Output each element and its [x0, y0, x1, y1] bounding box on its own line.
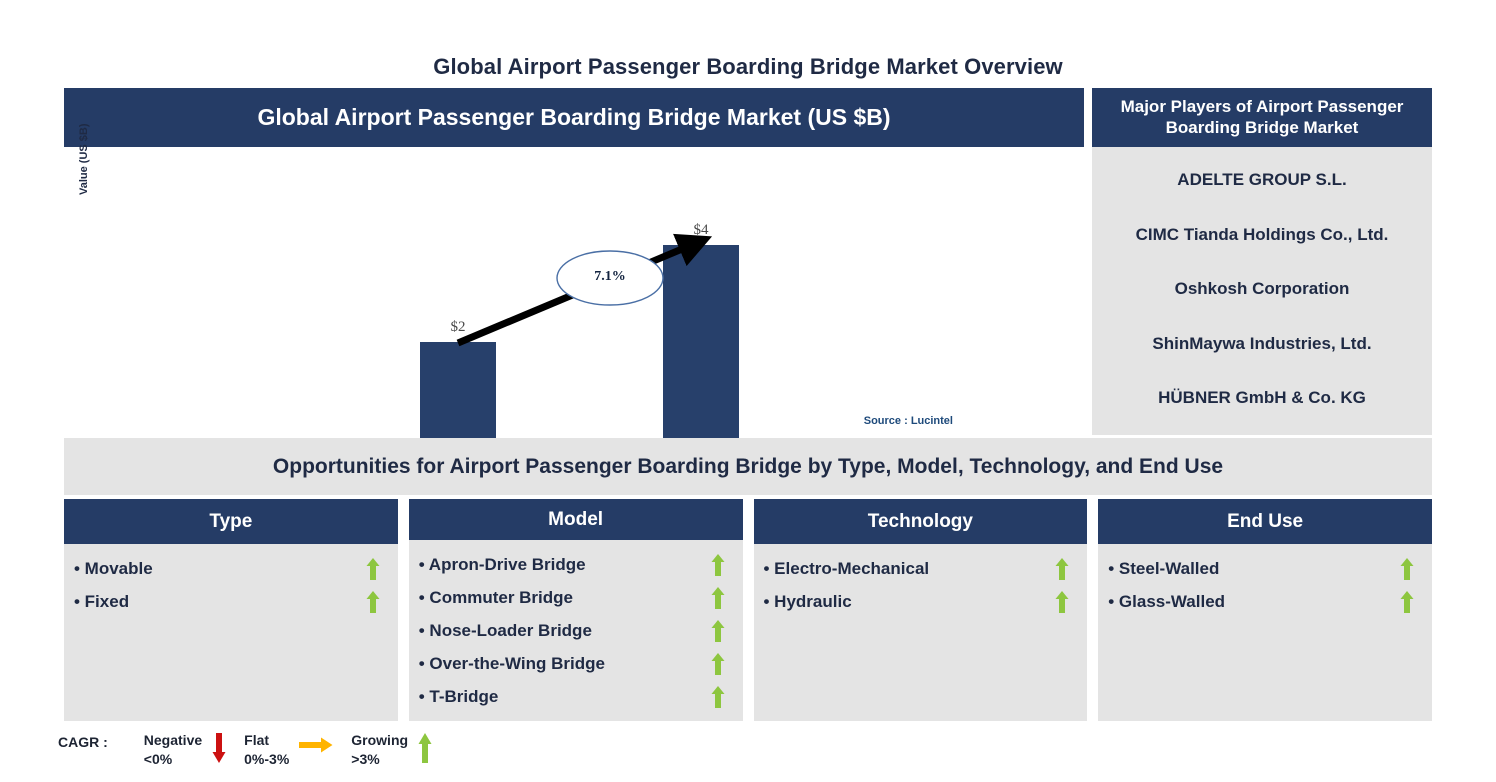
opportunity-item-label: • Apron-Drive Bridge — [419, 555, 586, 575]
opportunity-column-model: Model • Apron-Drive Bridge • Commuter Br… — [409, 499, 743, 721]
opportunity-column-body-type: • Movable • Fixed — [64, 544, 398, 721]
opportunity-item-label: • Fixed — [74, 592, 129, 612]
opportunity-item-label: • Over-the-Wing Bridge — [419, 654, 605, 674]
list-item: ShinMaywa Industries, Ltd. — [1152, 334, 1371, 354]
cagr-arrow-icon — [64, 147, 1084, 435]
top-row: Global Airport Passenger Boarding Bridge… — [64, 88, 1432, 435]
opportunity-column-body-technology: • Electro-Mechanical • Hydraulic — [754, 544, 1088, 721]
opportunity-column-body-end-use: • Steel-Walled • Glass-Walled — [1098, 544, 1432, 721]
list-item: HÜBNER GmbH & Co. KG — [1158, 388, 1366, 408]
cagr-legend: CAGR : Negative <0% Flat 0%-3% Growing >… — [58, 731, 450, 769]
chart-y-axis-label: Value (US $B) — [78, 123, 90, 195]
arrow-up-icon — [1400, 558, 1414, 580]
arrow-up-icon — [366, 591, 380, 613]
cagr-legend-entry-flat: Flat 0%-3% — [244, 731, 343, 769]
cagr-legend-entry-negative: Negative <0% — [144, 731, 236, 769]
opportunity-column-type: Type • Movable • Fixed — [64, 499, 398, 721]
cagr-legend-range: <0% — [144, 750, 202, 769]
list-item: • Steel-Walled — [1108, 552, 1420, 585]
arrow-up-icon — [711, 554, 725, 576]
cagr-legend-name: Flat — [244, 731, 289, 750]
list-item: ADELTE GROUP S.L. — [1177, 170, 1346, 190]
arrow-up-icon — [418, 733, 432, 766]
arrow-right-icon — [299, 733, 333, 756]
opportunity-item-label: • T-Bridge — [419, 687, 499, 707]
arrow-up-icon — [711, 686, 725, 708]
list-item: • Apron-Drive Bridge — [419, 548, 731, 581]
arrow-up-icon — [1400, 591, 1414, 613]
opportunity-column-header-end-use: End Use — [1098, 499, 1432, 544]
arrow-up-icon — [711, 653, 725, 675]
opportunity-column-technology: Technology • Electro-Mechanical • Hydrau… — [754, 499, 1088, 721]
arrow-up-icon — [1055, 591, 1069, 613]
list-item: Oshkosh Corporation — [1175, 279, 1350, 299]
cagr-legend-name: Growing — [351, 731, 408, 750]
list-item: • T-Bridge — [419, 680, 731, 713]
opportunity-column-header-technology: Technology — [754, 499, 1088, 544]
major-players-list: ADELTE GROUP S.L. CIMC Tianda Holdings C… — [1092, 147, 1432, 435]
list-item: CIMC Tianda Holdings Co., Ltd. — [1136, 225, 1389, 245]
list-item: • Electro-Mechanical — [764, 552, 1076, 585]
arrow-up-icon — [1055, 558, 1069, 580]
opportunities-banner: Opportunities for Airport Passenger Boar… — [64, 438, 1432, 495]
opportunity-item-label: • Movable — [74, 559, 153, 579]
cagr-legend-entry-growing: Growing >3% — [351, 731, 442, 769]
major-players-panel-header: Major Players of Airport Passenger Board… — [1092, 88, 1432, 147]
cagr-legend-range: >3% — [351, 750, 408, 769]
arrow-down-icon — [212, 733, 226, 766]
arrow-up-icon — [366, 558, 380, 580]
list-item: • Over-the-Wing Bridge — [419, 647, 731, 680]
market-chart-panel-header: Global Airport Passenger Boarding Bridge… — [64, 88, 1084, 147]
list-item: • Commuter Bridge — [419, 581, 731, 614]
opportunity-item-label: • Steel-Walled — [1108, 559, 1219, 579]
list-item: • Fixed — [74, 585, 386, 618]
opportunities-columns: Type • Movable • Fixed Model • Apron-Dri… — [64, 499, 1432, 721]
list-item: • Hydraulic — [764, 585, 1076, 618]
opportunity-column-end-use: End Use • Steel-Walled • Glass-Walled — [1098, 499, 1432, 721]
list-item: • Movable — [74, 552, 386, 585]
cagr-legend-range: 0%-3% — [244, 750, 289, 769]
opportunity-item-label: • Commuter Bridge — [419, 588, 573, 608]
cagr-legend-title: CAGR : — [58, 731, 108, 750]
opportunity-item-label: • Glass-Walled — [1108, 592, 1225, 612]
opportunity-column-header-model: Model — [409, 499, 743, 540]
major-players-panel: Major Players of Airport Passenger Board… — [1092, 88, 1432, 435]
arrow-up-icon — [711, 587, 725, 609]
arrow-up-icon — [711, 620, 725, 642]
bar-2035 — [663, 245, 739, 439]
list-item: • Glass-Walled — [1108, 585, 1420, 618]
list-item: • Nose-Loader Bridge — [419, 614, 731, 647]
page-title: Global Airport Passenger Boarding Bridge… — [0, 54, 1496, 80]
bar-chart: Value (US $B) $2 $4 2026 2035 7.1% Sourc… — [64, 147, 1084, 435]
cagr-legend-name: Negative — [144, 731, 202, 750]
opportunity-item-label: • Electro-Mechanical — [764, 559, 930, 579]
bar-value-2035: $4 — [663, 222, 739, 239]
market-chart-panel: Global Airport Passenger Boarding Bridge… — [64, 88, 1084, 435]
chart-source-note: Source : Lucintel — [864, 415, 953, 427]
opportunity-item-label: • Nose-Loader Bridge — [419, 621, 592, 641]
cagr-callout-label: 7.1% — [560, 269, 660, 285]
opportunity-column-header-type: Type — [64, 499, 398, 544]
bar-value-2026: $2 — [420, 319, 496, 336]
opportunity-item-label: • Hydraulic — [764, 592, 852, 612]
opportunity-column-body-model: • Apron-Drive Bridge • Commuter Bridge •… — [409, 540, 743, 721]
bar-2026 — [420, 342, 496, 439]
